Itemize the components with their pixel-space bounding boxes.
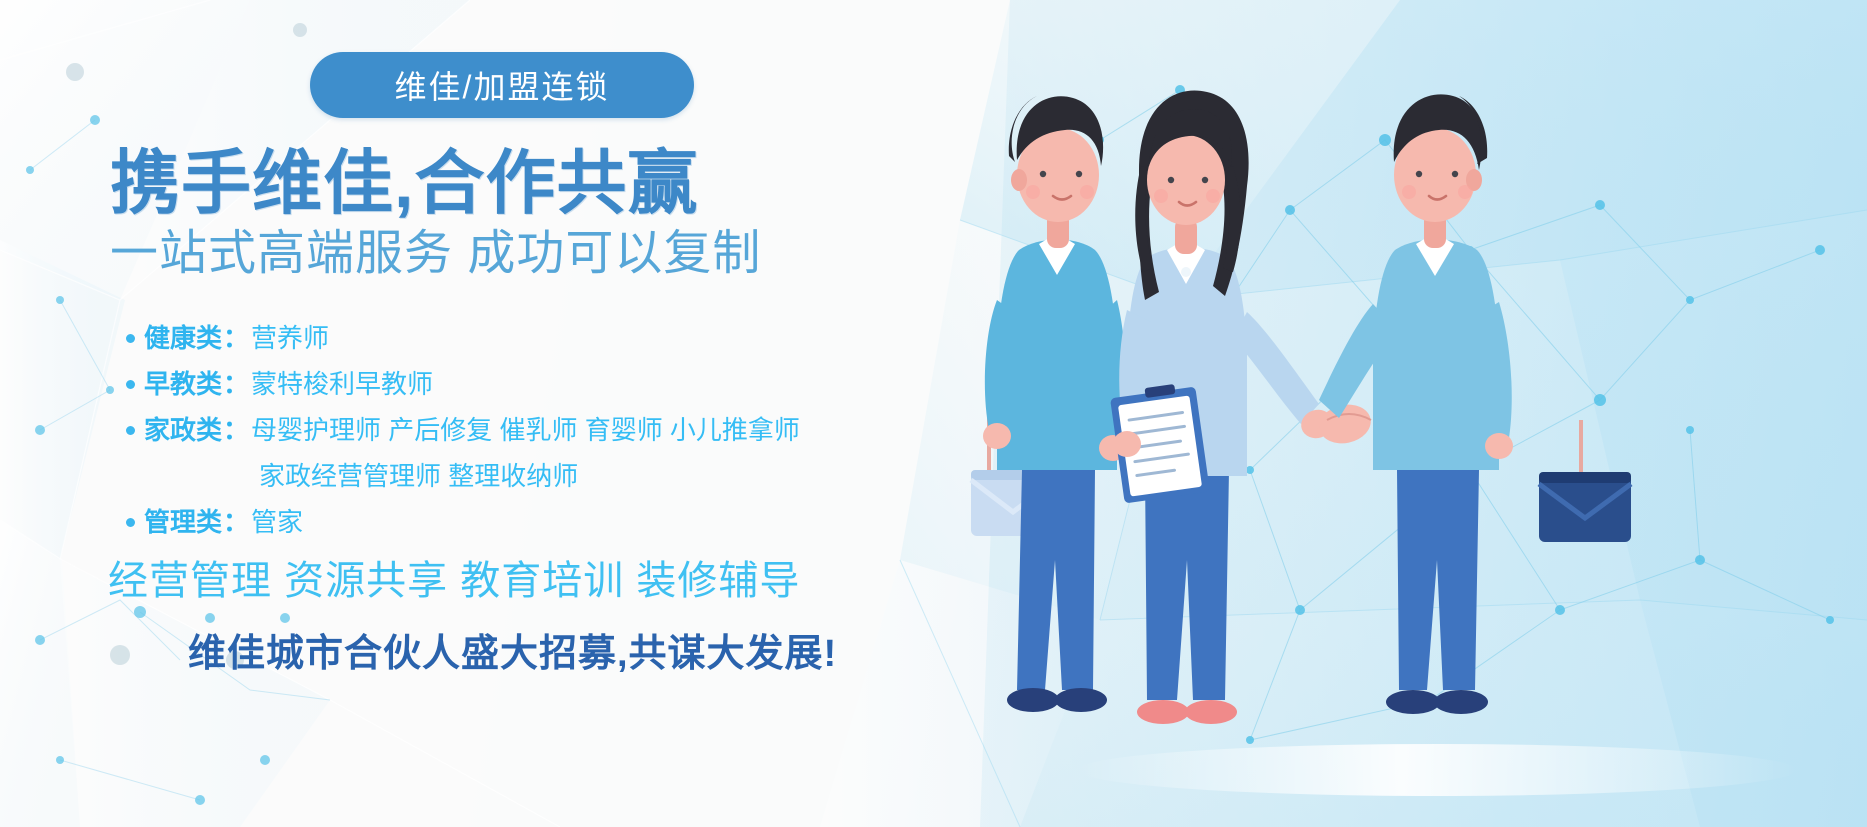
list-item: 管理类 ： 管家: [126, 502, 966, 542]
brand-badge-label: 维佳/加盟连锁: [395, 62, 610, 108]
category-value: 营养师: [251, 318, 329, 358]
category-value-line2: 家政经营管理师 整理收纳师: [126, 456, 966, 496]
page-subtitle: 一站式高端服务 成功可以复制: [110, 228, 761, 281]
category-label: 早教类: [144, 364, 222, 404]
slogan-line: 维佳城市合伙人盛大招募,共谋大发展!: [188, 622, 837, 677]
category-colon: ：: [222, 364, 251, 404]
briefcase-right: [1539, 420, 1631, 542]
brand-badge[interactable]: 维佳/加盟连锁: [310, 52, 694, 118]
person-left: [971, 96, 1127, 712]
category-value: 蒙特梭利早教师: [251, 364, 433, 404]
category-label: 管理类: [144, 502, 222, 542]
business-people-illustration: [967, 0, 1867, 827]
page-title: 携手维佳,合作共赢: [110, 148, 698, 218]
category-list: 健康类 ： 营养师 早教类 ： 蒙特梭利早教师 家政类 ： 母婴护理师 产后修复…: [126, 318, 966, 548]
promo-banner: 维佳/加盟连锁 携手维佳,合作共赢 一站式高端服务 成功可以复制 健康类 ： 营…: [0, 0, 1867, 827]
category-colon: ：: [222, 410, 251, 450]
bullet-dot-icon: [126, 334, 135, 343]
category-colon: ：: [222, 318, 251, 358]
bullet-dot-icon: [126, 426, 135, 435]
list-item: 早教类 ： 蒙特梭利早教师: [126, 364, 966, 404]
bullet-dot-icon: [126, 380, 135, 389]
category-value: 管家: [251, 502, 303, 542]
bullet-dot-icon: [126, 518, 135, 527]
services-line: 经营管理 资源共享 教育培训 装修辅导: [108, 548, 800, 606]
person-middle: [1110, 91, 1337, 724]
list-item: 健康类 ： 营养师: [126, 318, 966, 358]
category-value: 母婴护理师 产后修复 催乳师 育婴师 小儿推拿师: [251, 410, 800, 450]
category-label: 家政类: [144, 410, 222, 450]
category-label: 健康类: [144, 318, 222, 358]
person-right: [1319, 94, 1631, 714]
category-colon: ：: [222, 502, 251, 542]
banner-content: 维佳/加盟连锁 携手维佳,合作共赢 一站式高端服务 成功可以复制 健康类 ： 营…: [0, 0, 980, 827]
list-item: 家政类 ： 母婴护理师 产后修复 催乳师 育婴师 小儿推拿师: [126, 410, 966, 450]
